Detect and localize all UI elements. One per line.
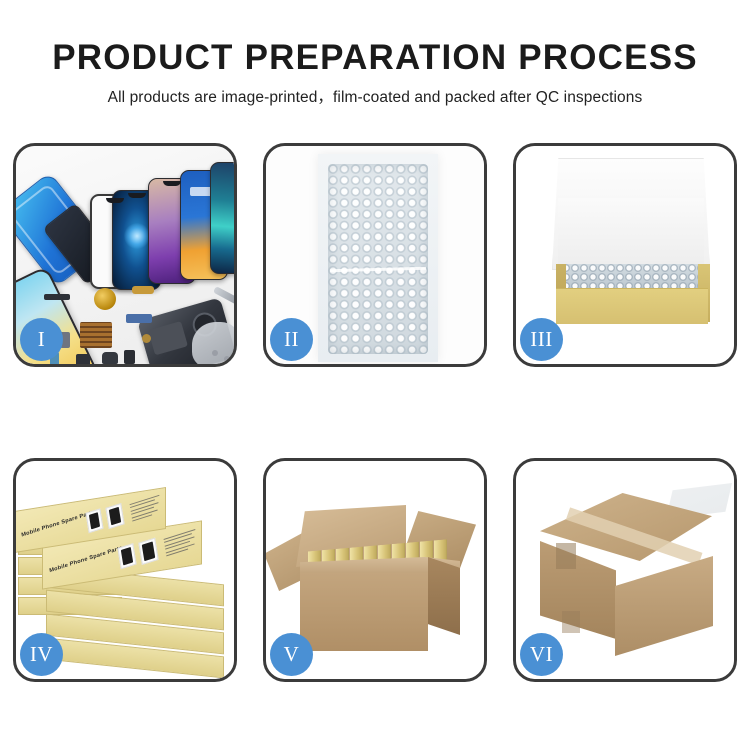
process-step-panel-4: Mobile Phone Spare Parts Mobile Phone Sp…: [13, 458, 237, 682]
step-badge-2: II: [270, 318, 313, 361]
process-step-panel-2: II: [263, 143, 487, 367]
carton-side-panel: [428, 557, 460, 635]
speaker-part: [102, 352, 118, 364]
step-badge-6: VI: [520, 633, 563, 676]
small-connector-part: [124, 350, 135, 364]
step-badge-5: V: [270, 633, 313, 676]
inner-box-front-wall: [556, 288, 708, 324]
home-button-part: [142, 334, 151, 343]
step-badge-3: III: [520, 318, 563, 361]
box-thumbnail: [85, 508, 103, 533]
step-badge-1: I: [20, 318, 63, 361]
carton-front-panel: [300, 573, 428, 651]
bubble-wrapped-product: [328, 164, 428, 354]
box-thumbnail: [105, 503, 124, 529]
step-badge-4: IV: [20, 633, 63, 676]
box-spec-lines: [164, 529, 199, 559]
speaker-coil-part: [94, 288, 116, 310]
box-thumbnail: [117, 543, 136, 569]
box-label: Mobile Phone Spare Parts: [49, 545, 123, 574]
phone-notch-icon: [128, 193, 146, 198]
process-step-panel-1: I: [13, 143, 237, 367]
phone-notch-icon: [163, 181, 181, 186]
phone-notch-icon: [106, 198, 124, 203]
box-thumbnail: [138, 538, 158, 565]
page-subtitle: All products are image-printed，film-coat…: [0, 85, 750, 107]
ribbon-cable-part: [126, 314, 152, 323]
box-spec-lines: [130, 495, 163, 524]
process-step-panel-3: III: [513, 143, 737, 367]
process-step-grid: I II III: [13, 143, 737, 682]
box-label: Mobile Phone Spare Parts: [21, 510, 95, 539]
process-step-panel-5: V: [263, 458, 487, 682]
phone-teal-wave-wallpaper: [210, 162, 234, 274]
chip-module-part: [80, 322, 112, 348]
carton-seam-lower: [562, 611, 580, 633]
process-step-panel-6: VI: [513, 458, 737, 682]
screws-group: [212, 350, 234, 364]
page-title: PRODUCT PREPARATION PROCESS: [0, 38, 750, 78]
carton-seam-upper: [556, 543, 576, 569]
flex-cable-part: [44, 294, 70, 300]
vibrator-motor-part: [76, 354, 90, 364]
gold-connector-part: [132, 286, 154, 294]
